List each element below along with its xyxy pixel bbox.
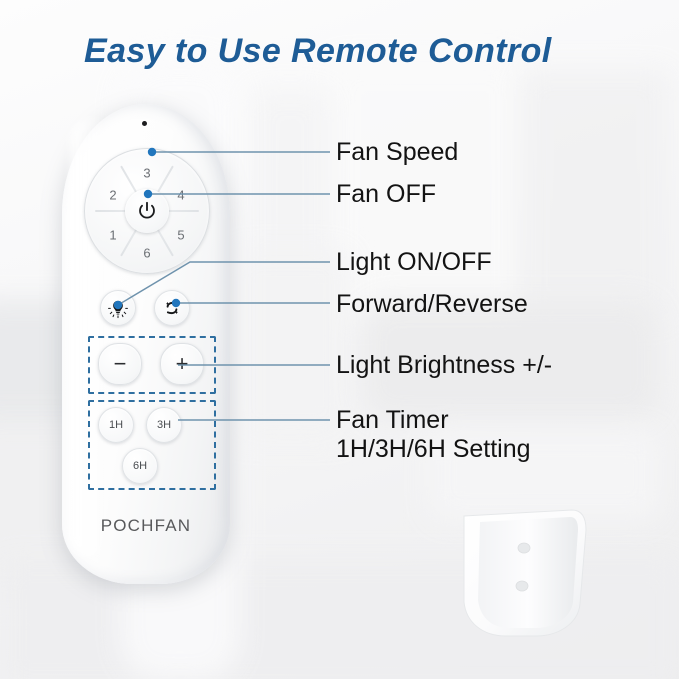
- leader-dot-fan-off: [144, 190, 152, 198]
- fan-timer-line-1: Fan Timer: [336, 406, 531, 435]
- leader-dot-forward-reverse: [172, 299, 180, 307]
- callout-label-fan-timer: Fan Timer 1H/3H/6H Setting: [336, 406, 531, 464]
- callout-label-forward-reverse: Forward/Reverse: [336, 290, 528, 318]
- screw-hole-bottom: [516, 581, 528, 591]
- callout-label-fan-speed: Fan Speed: [336, 138, 458, 166]
- callout-label-fan-off: Fan OFF: [336, 180, 436, 208]
- callout-label-light-brightness: Light Brightness +/-: [336, 351, 552, 379]
- leader-dot-fan-speed: [148, 148, 156, 156]
- remote-wall-holder: [440, 508, 640, 648]
- infographic-canvas: Easy to Use Remote Control 3 2 4 1 5 6: [0, 0, 679, 679]
- callout-label-light-on-off: Light ON/OFF: [336, 248, 492, 276]
- leader-light-on-off: [118, 262, 330, 305]
- leader-dot-light-on-off: [114, 301, 122, 309]
- screw-hole-top: [518, 543, 530, 553]
- fan-timer-line-2: 1H/3H/6H Setting: [336, 435, 531, 464]
